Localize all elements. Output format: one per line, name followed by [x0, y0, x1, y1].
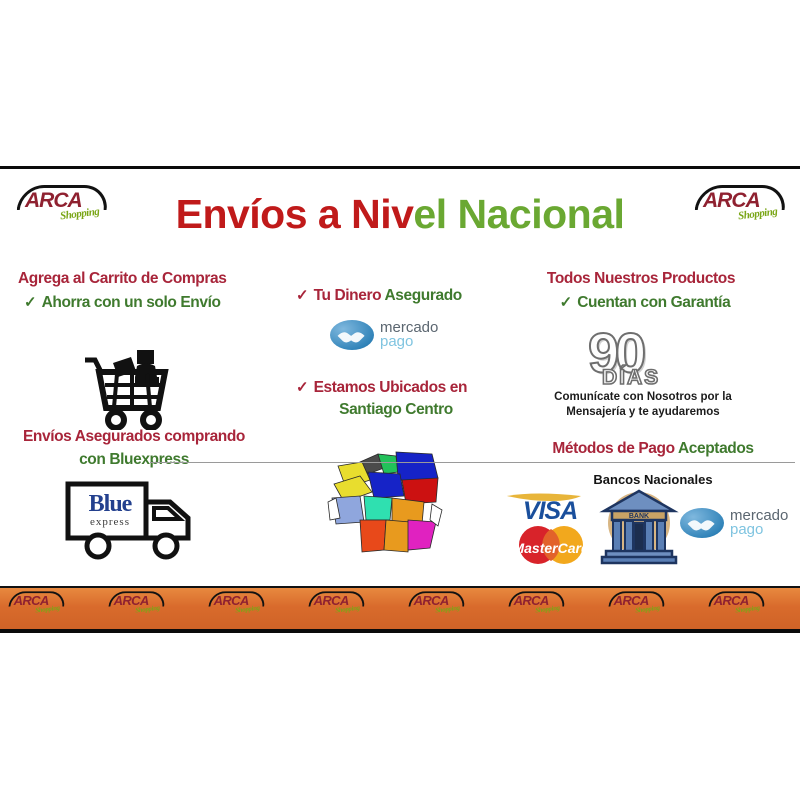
title-part-red: Envíos a Niv [176, 191, 414, 237]
bank-icon: BANK [598, 487, 680, 565]
arca-logo-footer: ARCAShopping [508, 590, 565, 617]
arca-logo-footer: ARCAShopping [108, 590, 165, 617]
payment-heading-green: Aceptados [678, 440, 754, 457]
money-secure-green: Asegurado [385, 287, 462, 304]
shopping-cart-icon [75, 330, 185, 430]
footer-brand-cell: ARCAShopping [100, 588, 200, 629]
mastercard-logo: MasterCard [505, 525, 597, 565]
arca-logo-tagline: Shopping [135, 604, 160, 614]
footer-brand-cell: ARCAShopping [200, 588, 300, 629]
shipping-subheading-text: con Bluexpress [79, 451, 189, 468]
footer-brand-cell: ARCAShopping [300, 588, 400, 629]
contact-note-line1: Comunícate con Nosotros por la [528, 390, 758, 405]
location-city-text: Santiago Centro [339, 401, 453, 418]
delivery-truck-icon: Blue express [62, 478, 222, 563]
arca-logo-tagline: Shopping [535, 604, 560, 614]
svg-text:MasterCard: MasterCard [512, 540, 589, 556]
warranty-subheading: ✓Cuentan con Garantía [540, 293, 750, 312]
arca-logo-tagline: Shopping [335, 604, 360, 614]
pago-word: pago [730, 523, 788, 537]
arca-logo-tagline: Shopping [435, 604, 460, 614]
footer-brand-cell: ARCAShopping [600, 588, 700, 629]
arca-logo-tagline: Shopping [35, 604, 60, 614]
check-icon: ✓ [296, 287, 309, 304]
cart-heading: Agrega al Carrito de Compras [18, 270, 248, 288]
check-icon: ✓ [296, 379, 309, 396]
page-title: Envíos a Nivel Nacional [0, 190, 800, 238]
check-icon: ✓ [560, 294, 573, 311]
warranty-subheading-text: Cuentan con Garantía [577, 294, 730, 311]
contact-note-line2: Mensajería y te ayudaremos [528, 405, 758, 420]
location-line: ✓Estamos Ubicados en [296, 378, 516, 397]
footer-brand-strip: ARCAShoppingARCAShoppingARCAShoppingARCA… [0, 586, 800, 633]
arca-logo-footer: ARCAShopping [408, 590, 465, 617]
footer-brand-cell: ARCAShopping [500, 588, 600, 629]
bluexpress-logo: Blue express [78, 492, 142, 528]
bluexpress-name: Blue [78, 492, 142, 516]
arca-logo-tagline: Shopping [635, 604, 660, 614]
divider-line-right [520, 462, 795, 463]
handshake-icon [680, 508, 724, 538]
arca-logo-footer: ARCAShopping [308, 590, 365, 617]
pago-word: pago [380, 335, 438, 349]
shipping-heading-text: Envíos Asegurados comprando [23, 428, 245, 445]
contact-note: Comunícate con Nosotros por la Mensajerí… [528, 390, 758, 420]
poster-canvas: ARCA Shopping ARCA Shopping Envíos a Niv… [0, 0, 800, 800]
warranty-days-graphic: 90 DÍAS [588, 326, 708, 398]
arca-logo-footer: ARCAShopping [208, 590, 265, 617]
banks-label-text: Bancos Nacionales [593, 472, 712, 487]
arca-logo-tagline: Shopping [235, 604, 260, 614]
mercado-pago-logo-middle: mercado pago [330, 320, 800, 350]
arca-logo-footer: ARCAShopping [708, 590, 765, 617]
location-text: Estamos Ubicados en [314, 379, 467, 396]
banks-label: Bancos Nacionales [528, 472, 778, 487]
warranty-days-word: DÍAS [602, 366, 660, 390]
money-secure-line: ✓Tu Dinero Asegurado [296, 286, 516, 305]
arca-logo-tagline: Shopping [735, 604, 760, 614]
bank-label: BANK [629, 513, 649, 520]
svg-text:VISA: VISA [523, 497, 577, 524]
warranty-heading-text: Todos Nuestros Productos [547, 270, 735, 287]
mercado-pago-text: mercado pago [380, 321, 438, 349]
money-secure-red: Tu Dinero [314, 287, 385, 304]
check-icon: ✓ [24, 294, 37, 311]
shipping-subheading: con Bluexpress [14, 451, 254, 469]
cart-subheading-text: Ahorra con un solo Envío [42, 294, 221, 311]
location-city: Santiago Centro [296, 401, 496, 419]
cart-subheading: ✓Ahorra con un solo Envío [24, 293, 254, 312]
arca-logo-footer: ARCAShopping [8, 590, 65, 617]
mercado-pago-logo-payments: mercado pago [680, 508, 788, 538]
visa-logo: VISA [505, 490, 595, 524]
footer-brand-cell: ARCAShopping [0, 588, 100, 629]
chile-regions-map [320, 440, 450, 570]
payment-heading-red: Métodos de Pago [552, 440, 678, 457]
shipping-heading: Envíos Asegurados comprando [14, 428, 254, 446]
warranty-heading: Todos Nuestros Productos [536, 270, 746, 288]
footer-brand-cell: ARCAShopping [400, 588, 500, 629]
cart-heading-text: Agrega al Carrito de Compras [18, 270, 226, 287]
payment-methods-heading: Métodos de Pago Aceptados [528, 440, 778, 458]
title-part-green: el Nacional [413, 191, 624, 237]
handshake-icon [330, 320, 374, 350]
arca-logo-footer: ARCAShopping [608, 590, 665, 617]
footer-brand-cell: ARCAShopping [700, 588, 800, 629]
bluexpress-sub: express [78, 517, 142, 528]
mercado-pago-text: mercado pago [730, 509, 788, 537]
